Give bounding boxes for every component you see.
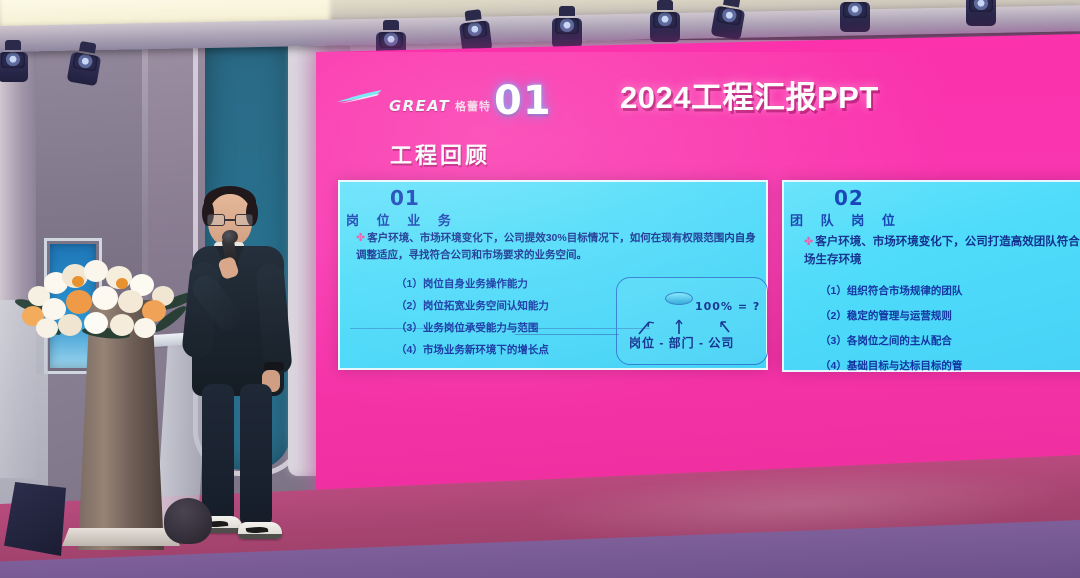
audience-head: [164, 498, 212, 544]
glasses-icon: [207, 214, 253, 226]
slide-card-02: 02 团 队 岗 位 ✤客户环境、市场环境变化下，公司打造高效团队符合市场生存环…: [782, 180, 1080, 372]
stage-light-icon: [458, 8, 493, 53]
slide-section-number: 01: [494, 78, 552, 124]
slide-deck-title: 2024工程汇报PPT: [620, 72, 879, 117]
slide-section-title: 工程回顾: [390, 138, 490, 170]
stage-light-icon: [650, 0, 680, 42]
diagram-arrows-icon: [617, 278, 769, 366]
card-diagram: 100% = ? 岗位 - 部门 - 公司: [616, 277, 768, 365]
card-number: 02: [834, 186, 864, 210]
stage-light-icon: [840, 0, 870, 32]
slide-card-01: 01 岗 位 业 务 ✤客户环境、市场环境变化下，公司提效30%目标情况下，如何…: [338, 180, 768, 370]
card-paragraph: ✤客户环境、市场环境变化下，公司提效30%目标情况下，如何在现有权限范围内自身调…: [356, 230, 758, 263]
brand-logo: GREAT 格蕾特: [336, 90, 491, 115]
card-paragraph-text: 客户环境、市场环境变化下，公司打造高效团队符合市场生存环境: [804, 236, 1080, 266]
loudspeaker-cabinet: [4, 482, 66, 556]
diagram-lead-line: [515, 334, 619, 335]
card-list: （1）组织符合市场规律的团队 （2）稳定的管理与运营规则 （3）各岗位之间的主从…: [820, 286, 1080, 386]
list-item: （1）组织符合市场规律的团队: [820, 286, 1080, 297]
right-leg: [240, 384, 272, 524]
podium-base: [62, 528, 180, 546]
slide-header: GREAT 格蕾特 01 2024工程汇报PPT: [336, 86, 1056, 126]
bullet-marker-icon: ✤: [356, 232, 365, 244]
diagram-chain-label: 岗位 - 部门 - 公司: [629, 334, 734, 351]
bullet-marker-icon: ✤: [804, 236, 813, 248]
left-leg: [202, 384, 234, 524]
led-screen: GREAT 格蕾特 01 2024工程汇报PPT 工程回顾 01 岗 位 业 务…: [316, 34, 1080, 500]
presenter: [176, 184, 306, 550]
legs: [202, 384, 274, 526]
list-item: （4）基础目标与达标目标的管: [820, 361, 1080, 372]
right-sneaker: [238, 522, 282, 539]
card-paragraph-text: 客户环境、市场环境变化下，公司提效30%目标情况下，如何在现有权限范围内自身调整…: [356, 232, 756, 261]
list-item: （3）各岗位之间的主从配合: [820, 336, 1080, 347]
stage-light-icon: [552, 6, 582, 48]
brand-swoosh-icon: [336, 90, 384, 104]
list-item: （2）稳定的管理与运营规则: [820, 311, 1080, 322]
stage-light-icon: [966, 0, 996, 26]
card-paragraph: ✤客户环境、市场环境变化下，公司打造高效团队符合市场生存环境: [804, 234, 1080, 270]
card-heading: 岗 位 业 务: [346, 210, 458, 229]
card-heading: 团 队 岗 位: [790, 210, 902, 229]
screenshot-root: GREAT 格蕾特 01 2024工程汇报PPT 工程回顾 01 岗 位 业 务…: [0, 0, 1080, 578]
stage-light-icon: [0, 40, 28, 82]
sneaker-swoosh-icon: [246, 526, 269, 534]
card-number: 01: [390, 186, 420, 210]
brand-wordmark: GREAT: [389, 97, 450, 115]
brand-chinese-name: 格蕾特: [455, 98, 491, 114]
